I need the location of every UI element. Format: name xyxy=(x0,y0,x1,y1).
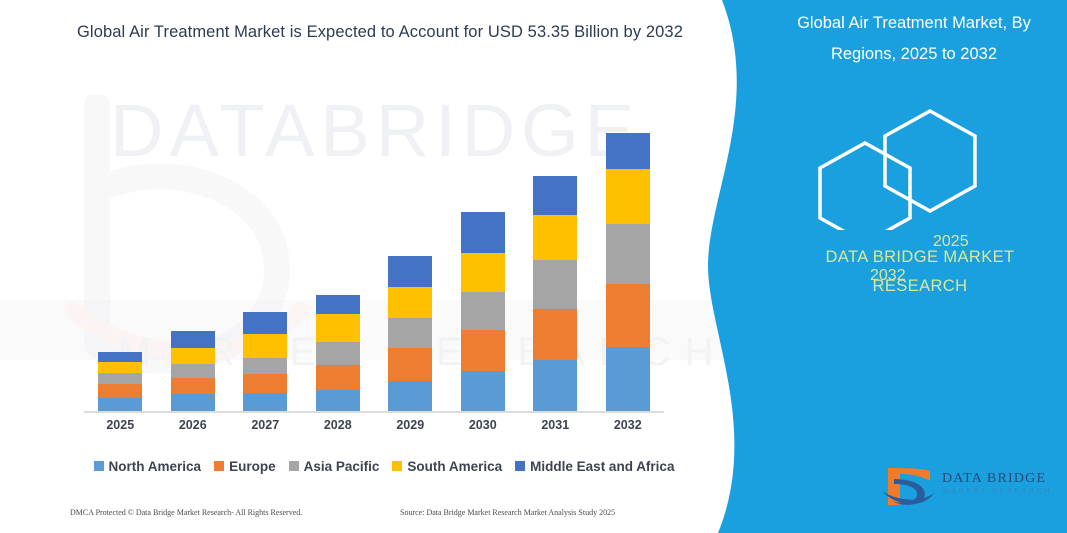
bar-2031 xyxy=(533,176,577,412)
legend-swatch-icon xyxy=(94,461,104,471)
bar-segment-2026-europe xyxy=(171,378,215,394)
data-bridge-logo-icon xyxy=(880,465,936,511)
bar-segment-2031-asia-pacific xyxy=(533,260,577,309)
bar-segment-2026-asia-pacific xyxy=(171,364,215,378)
bar-segment-2032-middle-east-and-africa xyxy=(606,133,650,169)
chart-panel: DATABRIDGE MARKET RESEARCH Global Air Tr… xyxy=(0,0,740,533)
footer-source: Source: Data Bridge Market Research Mark… xyxy=(400,508,615,517)
bar-segment-2032-europe xyxy=(606,284,650,347)
bar-segment-2032-north-america xyxy=(606,347,650,412)
legend-item-asia-pacific[interactable]: Asia Pacific xyxy=(289,459,380,474)
legend-label: Europe xyxy=(229,459,276,474)
bar-segment-2027-south-america xyxy=(243,334,287,358)
x-axis-label-2029: 2029 xyxy=(374,418,446,432)
legend-item-europe[interactable]: Europe xyxy=(214,459,276,474)
x-axis-label-2026: 2026 xyxy=(157,418,229,432)
bar-segment-2029-europe xyxy=(388,348,432,381)
legend-item-middle-east-and-africa[interactable]: Middle East and Africa xyxy=(515,459,674,474)
right-blue-panel: Global Air Treatment Market, By Regions,… xyxy=(690,0,1067,533)
bar-segment-2028-middle-east-and-africa xyxy=(316,295,360,314)
bar-segment-2029-south-america xyxy=(388,287,432,318)
bar-segment-2031-middle-east-and-africa xyxy=(533,176,577,215)
x-axis-label-2027: 2027 xyxy=(229,418,301,432)
legend-label: South America xyxy=(407,459,502,474)
x-axis-label-2032: 2032 xyxy=(592,418,664,432)
bar-segment-2027-europe xyxy=(243,374,287,393)
bar-segment-2025-asia-pacific xyxy=(98,373,142,384)
bar-segment-2030-europe xyxy=(461,330,505,371)
bar-segment-2028-north-america xyxy=(316,390,360,412)
legend-label: Asia Pacific xyxy=(304,459,380,474)
legend-swatch-icon xyxy=(289,461,299,471)
legend-item-north-america[interactable]: North America xyxy=(94,459,202,474)
chart-baseline-axis xyxy=(84,411,664,413)
bar-segment-2027-middle-east-and-africa xyxy=(243,312,287,334)
bar-2029 xyxy=(388,256,432,412)
legend-label: North America xyxy=(109,459,202,474)
footer-copyright: DMCA Protected © Data Bridge Market Rese… xyxy=(70,508,302,517)
footer: DMCA Protected © Data Bridge Market Rese… xyxy=(70,508,690,524)
bar-segment-2031-south-america xyxy=(533,215,577,260)
bar-segment-2032-asia-pacific xyxy=(606,224,650,284)
chart-title: Global Air Treatment Market is Expected … xyxy=(60,18,700,46)
hexagon-2032-shape xyxy=(820,143,910,230)
bar-2027 xyxy=(243,312,287,412)
bar-segment-2026-middle-east-and-africa xyxy=(171,331,215,348)
bar-segment-2029-middle-east-and-africa xyxy=(388,256,432,287)
bar-2032 xyxy=(606,133,650,412)
legend-swatch-icon xyxy=(515,461,525,471)
hexagon-shapes xyxy=(790,105,1050,230)
bar-segment-2030-asia-pacific xyxy=(461,292,505,330)
bar-segment-2029-north-america xyxy=(388,381,432,412)
panel-brand-text: DATA BRIDGE MARKET RESEARCH xyxy=(790,243,1050,301)
legend-label: Middle East and Africa xyxy=(530,459,674,474)
bar-segment-2030-north-america xyxy=(461,371,505,412)
bar-segment-2025-north-america xyxy=(98,398,142,412)
x-axis-label-2031: 2031 xyxy=(519,418,591,432)
bar-segment-2032-south-america xyxy=(606,169,650,224)
x-axis-label-2028: 2028 xyxy=(302,418,374,432)
hexagon-group: 2025 2032 xyxy=(790,105,1050,230)
bar-segment-2027-north-america xyxy=(243,393,287,412)
x-axis-label-2025: 2025 xyxy=(84,418,156,432)
bar-2030 xyxy=(461,212,505,412)
bar-segment-2025-middle-east-and-africa xyxy=(98,352,142,362)
bar-segment-2025-europe xyxy=(98,384,142,398)
bar-segment-2029-asia-pacific xyxy=(388,318,432,348)
bar-2028 xyxy=(316,295,360,412)
bar-segment-2026-north-america xyxy=(171,394,215,412)
legend-swatch-icon xyxy=(214,461,224,471)
bar-segment-2030-middle-east-and-africa xyxy=(461,212,505,253)
chart-x-axis-labels: 20252026202720282029203020312032 xyxy=(84,418,664,440)
logo-title: DATA BRIDGE xyxy=(942,471,1046,487)
bar-segment-2026-south-america xyxy=(171,348,215,364)
bar-segment-2028-south-america xyxy=(316,314,360,342)
legend-swatch-icon xyxy=(392,461,402,471)
bar-segment-2031-north-america xyxy=(533,360,577,412)
panel-content: Global Air Treatment Market, By Regions,… xyxy=(690,0,1067,533)
bar-2026 xyxy=(171,331,215,412)
legend-item-south-america[interactable]: South America xyxy=(392,459,502,474)
bar-segment-2028-europe xyxy=(316,365,360,390)
infographic-slide: DATABRIDGE MARKET RESEARCH Global Air Tr… xyxy=(0,0,1067,533)
bar-segment-2025-south-america xyxy=(98,362,142,373)
bar-segment-2030-south-america xyxy=(461,253,505,292)
bar-segment-2028-asia-pacific xyxy=(316,342,360,365)
logo-subtitle: MARKET RESEARCH xyxy=(943,488,1052,495)
bar-2025 xyxy=(98,352,142,412)
bar-segment-2027-asia-pacific xyxy=(243,358,287,374)
panel-title: Global Air Treatment Market, By Regions,… xyxy=(778,8,1050,70)
chart-plot-area xyxy=(84,110,664,412)
chart-legend: North AmericaEuropeAsia PacificSouth Ame… xyxy=(84,455,684,477)
bar-segment-2031-europe xyxy=(533,309,577,360)
company-logo: DATA BRIDGE MARKET RESEARCH xyxy=(880,462,1055,518)
x-axis-label-2030: 2030 xyxy=(447,418,519,432)
